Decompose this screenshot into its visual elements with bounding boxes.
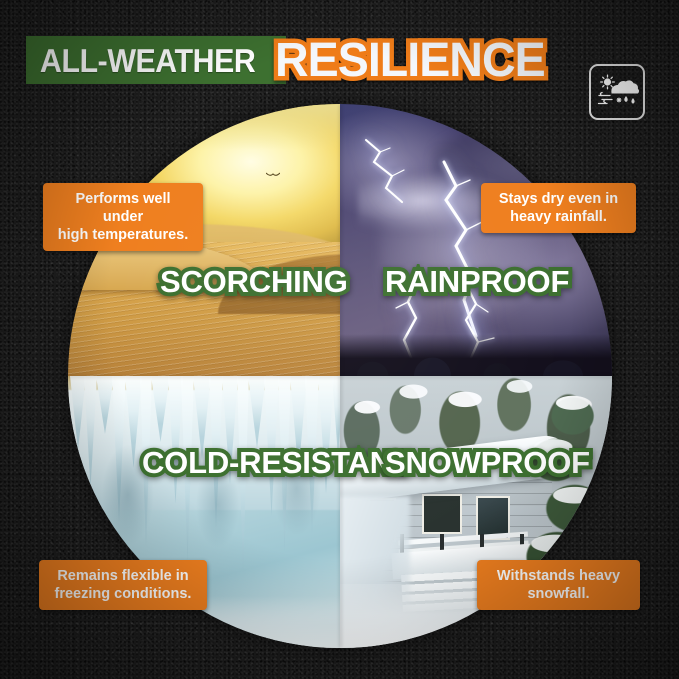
quadrant-title-cold-resistant: COLD-RESISTANT	[142, 445, 411, 481]
title-badge-all-weather: ALL-WEATHER	[26, 36, 286, 84]
quadrant-title-scorching: SCORCHING	[160, 264, 348, 300]
caption-scorching: Performs well under high temperatures.	[43, 183, 203, 251]
cabin-window	[422, 494, 462, 534]
quadrant-title-rainproof: RAINPROOF	[385, 264, 569, 300]
caption-rainproof: Stays dry even in heavy rainfall.	[481, 183, 636, 233]
sun-cloud-wind-rain-snow-icon	[596, 71, 640, 115]
desert-sky-haze	[68, 104, 340, 150]
bird-silhouette-icon	[266, 172, 280, 179]
quadrant-rainproof-image	[340, 104, 612, 376]
caption-cold-resistant: Remains flexible in freezing conditions.	[39, 560, 207, 610]
poster-header: ALL-WEATHER RESILIENCE	[0, 30, 679, 92]
quadrant-title-snowproof: SNOWPROOF	[385, 445, 590, 481]
poster-canvas: ALL-WEATHER RESILIENCE	[0, 0, 679, 679]
title-text-resilience: RESILIENCE	[275, 30, 545, 92]
storm-treeline	[340, 334, 612, 376]
ice-shadow-depth	[68, 418, 340, 558]
caption-snowproof: Withstands heavy snowfall.	[477, 560, 640, 610]
weather-badge	[589, 64, 645, 120]
title-text-all-weather: ALL-WEATHER	[40, 44, 256, 77]
